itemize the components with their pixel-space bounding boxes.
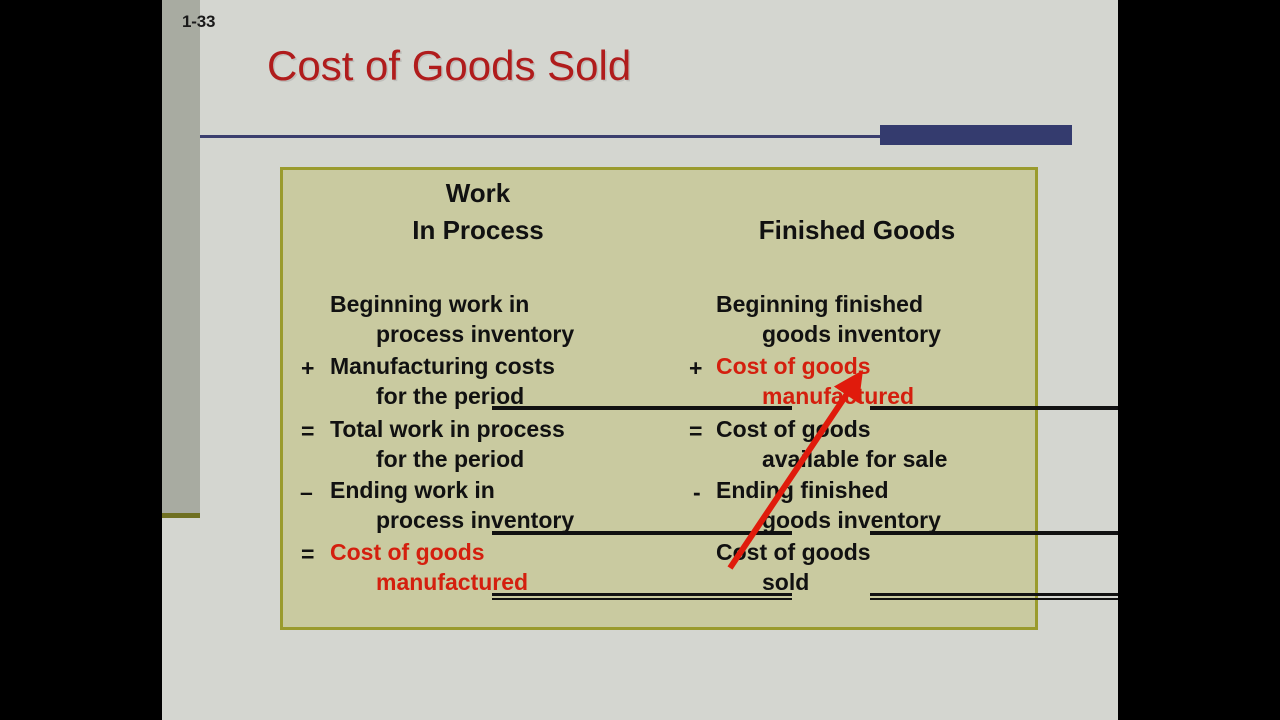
header-accent-bar [880,125,1072,145]
operator-wip-4: = [301,541,314,568]
row-fg-3: Ending finished goods inventory [716,475,941,535]
row-wip-2: Total work in process for the period [330,414,565,474]
operator-fg-1: + [689,355,702,382]
presentation-slide: 1-33 Cost of Goods Sold Work In Process … [162,0,1118,720]
row-wip-1: Manufacturing costs for the period [330,351,555,411]
row-wip-0-line2: process inventory [330,319,574,349]
column-header-finished-goods: Finished Goods [673,212,1041,249]
total-double-rule-fg [870,593,1118,600]
row-fg-3-line1: Ending finished [716,475,941,505]
row-fg-4-line2: sold [716,567,871,597]
row-wip-0: Beginning work in process inventory [330,289,574,349]
slide-left-strip-cap [162,513,200,518]
row-fg-2-line1: Cost of goods [716,414,947,444]
row-fg-1: Cost of goods manufactured [716,351,914,411]
row-wip-3: Ending work in process inventory [330,475,574,535]
slide-number: 1-33 [182,12,215,32]
column-work-in-process: Work In Process + = – = Beginning work i… [283,170,673,627]
subtotal-rule-fg-1 [870,406,1118,410]
row-wip-0-line1: Beginning work in [330,289,574,319]
row-fg-4-line1: Cost of goods [716,537,871,567]
row-wip-3-line1: Ending work in [330,475,574,505]
column-finished-goods: Finished Goods + = - Beginning finished … [673,170,1041,627]
column-header-work-in-process-line2: In Process [283,212,673,249]
row-fg-0: Beginning finished goods inventory [716,289,941,349]
row-fg-4: Cost of goods sold [716,537,871,597]
row-fg-2: Cost of goods available for sale [716,414,947,474]
t-account-diagram: Work In Process + = – = Beginning work i… [280,167,1038,630]
operator-fg-3: - [693,479,701,506]
row-fg-0-line2: goods inventory [716,319,941,349]
row-fg-0-line1: Beginning finished [716,289,941,319]
operator-wip-3: – [300,479,313,506]
page-title: Cost of Goods Sold [267,42,631,90]
operator-wip-1: + [301,355,314,382]
row-wip-2-line2: for the period [330,444,565,474]
row-fg-1-line1: Cost of goods [716,351,914,381]
slide-left-decoration-strip [162,0,200,513]
row-wip-4-line1: Cost of goods [330,537,528,567]
row-fg-2-line2: available for sale [716,444,947,474]
row-wip-2-line1: Total work in process [330,414,565,444]
subtotal-rule-fg-2 [870,531,1118,535]
operator-wip-2: = [301,418,314,445]
row-wip-1-line1: Manufacturing costs [330,351,555,381]
row-wip-4: Cost of goods manufactured [330,537,528,597]
column-header-work-in-process-line1: Work [283,175,673,212]
screenshot-root: 1-33 Cost of Goods Sold Work In Process … [0,0,1280,720]
operator-fg-2: = [689,418,702,445]
